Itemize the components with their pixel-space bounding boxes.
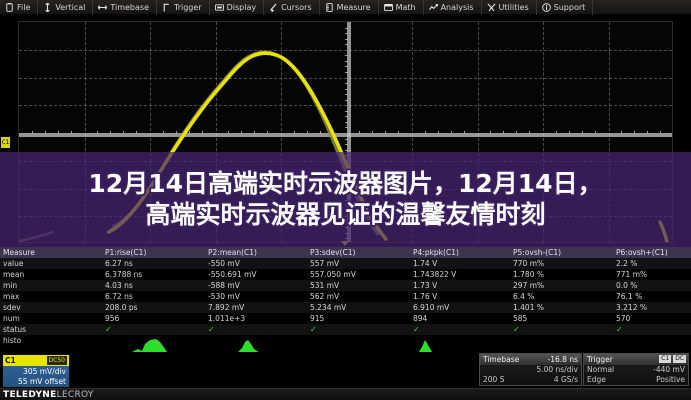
column-header-p6[interactable]: P6:ovsh+(C1) (616, 247, 691, 258)
cell-p6: 2.2 % (616, 258, 691, 269)
cursors-icon (269, 3, 278, 12)
table-row-status: status ✓ ✓ ✓ ✓ ✓ ✓ (0, 324, 691, 335)
column-header-p1[interactable]: P1:rise(C1) (105, 247, 205, 258)
cell-p3: 5.234 mV (310, 302, 410, 313)
menu-item-cursors-label: Cursors (281, 3, 311, 12)
trigger-title: Trigger (587, 355, 613, 364)
cell-p5: 585 (513, 313, 613, 324)
cell-p4: 894 (413, 313, 511, 324)
cell-p3: 915 (310, 313, 410, 324)
display-icon (215, 3, 224, 12)
menu-item-display[interactable]: Display (210, 0, 265, 15)
cell-p1: 6.27 ns (105, 258, 205, 269)
menu-bar: File Vertical Timebase Trigger Display (0, 0, 691, 15)
timebase-memory: 200 S (483, 375, 504, 385)
row-label: mean (3, 269, 103, 280)
row-label: max (3, 291, 103, 302)
trigger-descriptor[interactable]: Trigger C1 DC Normal -440 mV Edge Positi… (583, 353, 689, 386)
column-header-p4[interactable]: P4:pkpk(C1) (413, 247, 511, 258)
math-icon (384, 3, 393, 12)
cell-p4: 6.910 mV (413, 302, 511, 313)
menu-item-file[interactable]: File (0, 0, 38, 15)
cell-p1: 956 (105, 313, 205, 324)
support-icon (542, 3, 551, 12)
cell-p2: 7.892 mV (208, 302, 308, 313)
row-label: status (3, 324, 103, 335)
row-label: sdev (3, 302, 103, 313)
trigger-type-row: Edge Positive (584, 375, 688, 385)
menu-item-analysis[interactable]: Analysis (424, 0, 482, 15)
trigger-coupling-badge[interactable]: DC (673, 355, 686, 363)
menu-item-display-label: Display (227, 3, 257, 12)
trigger-mode-row: Normal -440 mV (584, 365, 688, 375)
trigger-position-marker[interactable] (341, 241, 349, 246)
menu-item-measure[interactable]: Measure (320, 0, 379, 15)
analysis-icon (429, 3, 438, 12)
channel-1-header[interactable]: C1 DC50 (3, 355, 69, 366)
status-check-p3: ✓ (310, 324, 410, 335)
timebase-delay: -16.8 ns (548, 354, 578, 365)
menu-item-cursors[interactable]: Cursors (264, 0, 319, 15)
brand-secondary: LECROY (57, 390, 94, 400)
cell-p1: 6.3788 ns (105, 269, 205, 280)
menu-item-analysis-label: Analysis (441, 3, 474, 12)
cell-p3: 557 mV (310, 258, 410, 269)
menu-item-measure-label: Measure (337, 3, 371, 12)
row-label: num (3, 313, 103, 324)
column-header-p3[interactable]: P3:sdev(C1) (310, 247, 410, 258)
trigger-level: -440 mV (653, 365, 685, 375)
channel-1-name: C1 (3, 356, 16, 365)
row-label: min (3, 280, 103, 291)
status-bar: C1 DC50 305 mV/div 55 mV offset Timebase… (0, 352, 691, 400)
channel-1-ground-marker[interactable]: C1 (1, 137, 10, 148)
table-row: value 6.27 ns -550 mV 557 mV 1.74 V 770 … (0, 258, 691, 269)
status-check-p4: ✓ (413, 324, 511, 335)
menu-item-math[interactable]: Math (379, 0, 424, 15)
menu-item-timebase[interactable]: Timebase (93, 0, 157, 15)
channel-1-settings[interactable]: 305 mV/div 55 mV offset (3, 366, 69, 387)
menu-item-utilities[interactable]: Utilities (482, 0, 537, 15)
channel-1-scale: 305 mV/div (3, 367, 66, 377)
graticule (18, 21, 673, 243)
table-row: mean 6.3788 ns -550.691 mV 557.050 mV 1.… (0, 269, 691, 280)
cell-p6: 0.0 % (616, 280, 691, 291)
cell-p1: 6.72 ns (105, 291, 205, 302)
trigger-source-badge[interactable]: C1 (659, 355, 671, 363)
menu-item-utilities-label: Utilities (499, 3, 529, 12)
status-check-p2: ✓ (208, 324, 308, 335)
trigger-type: Edge (587, 375, 606, 385)
cell-p5: 6.4 % (513, 291, 613, 302)
trigger-slope: Positive (656, 375, 685, 385)
cell-p6: 76.1 % (616, 291, 691, 302)
menu-item-support[interactable]: Support (537, 0, 594, 15)
status-check-p6: ✓ (616, 324, 691, 335)
cell-p6: 570 (616, 313, 691, 324)
menu-item-timebase-label: Timebase (110, 3, 149, 12)
channel-1-trace (19, 22, 672, 242)
table-row: min 4.03 ns -588 mV 531 mV 1.73 V 297 m%… (0, 280, 691, 291)
cell-p1: 208.0 ps (105, 302, 205, 313)
cell-p3: 562 mV (310, 291, 410, 302)
cell-p4: 1.743822 V (413, 269, 511, 280)
cell-p5: 1.780 % (513, 269, 613, 280)
cell-p2: -550.691 mV (208, 269, 308, 280)
cell-p2: -588 mV (208, 280, 308, 291)
column-header-p2[interactable]: P2:mean(C1) (208, 247, 308, 258)
timebase-sample-rate: 4 GS/s (554, 375, 578, 385)
table-row: num 956 1.011e+3 915 894 585 570 (0, 313, 691, 324)
utilities-icon (487, 3, 496, 12)
trigger-mode: Normal (587, 365, 614, 375)
timebase-header: Timebase -16.8 ns (480, 354, 581, 365)
cell-p4: 1.74 V (413, 258, 511, 269)
menu-item-support-label: Support (554, 3, 586, 12)
table-header-row: Measure P1:rise(C1) P2:mean(C1) P3:sdev(… (0, 247, 691, 258)
column-header-measure: Measure (3, 247, 103, 258)
cell-p2: -530 mV (208, 291, 308, 302)
menu-item-file-label: File (17, 3, 30, 12)
file-icon (5, 3, 14, 12)
timebase-icon (98, 3, 107, 12)
waveform-display[interactable]: C1 (0, 15, 691, 247)
measurement-table[interactable]: Measure P1:rise(C1) P2:mean(C1) P3:sdev(… (0, 247, 691, 352)
cell-p6: 771 m% (616, 269, 691, 280)
cell-p4: 1.73 V (413, 280, 511, 291)
menu-item-trigger-label: Trigger (174, 3, 202, 12)
status-check-p1: ✓ (105, 324, 205, 335)
trigger-header: Trigger C1 DC (584, 354, 688, 365)
oscilloscope-screenshot: File Vertical Timebase Trigger Display (0, 0, 691, 400)
cell-p3: 557.050 mV (310, 269, 410, 280)
cell-p1: 4.03 ns (105, 280, 205, 291)
cell-p3: 531 mV (310, 280, 410, 291)
channel-1-descriptor[interactable]: C1 DC50 305 mV/div 55 mV offset (2, 354, 70, 386)
cell-p2: 1.011e+3 (208, 313, 308, 324)
brand-bar: TELEDYNELECROY (0, 388, 691, 400)
trigger-badges: C1 DC (659, 355, 686, 363)
timebase-scale: 5.00 ns/div (480, 365, 581, 375)
vertical-icon (43, 3, 52, 12)
row-label-histo: histo (3, 335, 21, 346)
brand-logo: TELEDYNELECROY (3, 389, 94, 400)
menu-item-vertical-label: Vertical (55, 3, 85, 12)
menu-bar-filler (593, 0, 691, 15)
menu-item-vertical[interactable]: Vertical (38, 0, 93, 15)
cell-p5: 297 m% (513, 280, 613, 291)
menu-item-trigger[interactable]: Trigger (157, 0, 210, 15)
cell-p6: 3.212 % (616, 302, 691, 313)
cell-p4: 1.76 V (413, 291, 511, 302)
table-row: sdev 208.0 ps 7.892 mV 5.234 mV 6.910 mV… (0, 302, 691, 313)
cell-p5: 1.401 % (513, 302, 613, 313)
menu-item-math-label: Math (396, 3, 416, 12)
channel-1-offset: 55 mV offset (3, 377, 66, 387)
cell-p5: 770 m% (513, 258, 613, 269)
table-row: max 6.72 ns -530 mV 562 mV 1.76 V 6.4 % … (0, 291, 691, 302)
trigger-icon (162, 3, 171, 12)
channel-1-coupling-badge[interactable]: DC50 (47, 356, 67, 365)
brand-primary: TELEDYNE (3, 390, 57, 400)
status-check-p5: ✓ (513, 324, 613, 335)
timebase-title: Timebase (483, 355, 519, 364)
timebase-acquisition: 200 S 4 GS/s (480, 375, 581, 385)
timebase-descriptor[interactable]: Timebase -16.8 ns 5.00 ns/div 200 S 4 GS… (479, 353, 582, 386)
row-label: value (3, 258, 103, 269)
cell-p2: -550 mV (208, 258, 308, 269)
measure-icon (325, 3, 334, 12)
column-header-p5[interactable]: P5:ovsh-(C1) (513, 247, 613, 258)
